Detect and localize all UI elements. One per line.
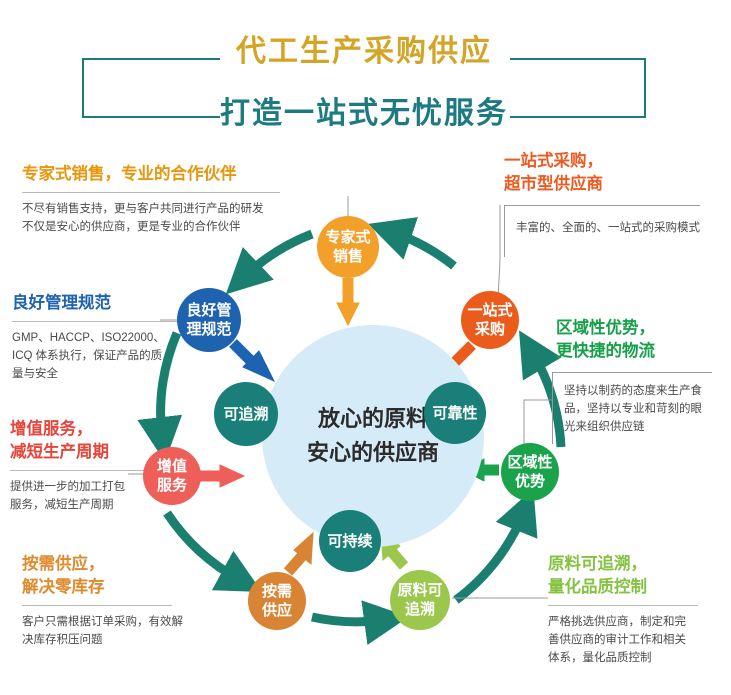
annotation-expert-sales-rule — [22, 192, 280, 193]
node-regional-advantage[interactable]: 区域性优势 — [501, 443, 559, 501]
node-on-demand-supply-label: 按需供应 — [262, 582, 292, 620]
node-sustainable-label: 可持续 — [327, 532, 372, 551]
annotation-good-management-body: GMP、HACCP、ISO22000、 ICQ 体系执行，保证产品的质 量与安全 — [12, 329, 184, 383]
node-one-stop-procurement[interactable]: 一站式采购 — [461, 291, 519, 349]
annotation-one-stop-title: 一站式采购， 超市型供应商 — [504, 150, 704, 196]
annotation-regional-title: 区域性优势， 更快捷的物流 — [556, 317, 722, 363]
center-label-line1: 放心的原料 — [318, 402, 428, 436]
node-reliable-label: 可靠性 — [432, 404, 477, 423]
annotation-on-demand: 按需供应， 解决零库存 客户只需根据订单采购，有效解 决库存积压问题 — [22, 553, 200, 649]
node-on-demand-supply[interactable]: 按需供应 — [248, 572, 306, 630]
node-one-stop-procurement-label: 一站式采购 — [467, 301, 512, 339]
node-reliable[interactable]: 可靠性 — [424, 382, 486, 444]
node-material-traceability-label: 原料可追溯 — [397, 581, 442, 619]
annotation-value-added-rule — [10, 470, 152, 471]
annotation-regional: 区域性优势， 更快捷的物流 — [556, 317, 722, 363]
node-sustainable[interactable]: 可持续 — [319, 510, 381, 572]
annotation-good-management-rule — [12, 321, 180, 322]
node-value-added-service-label: 增值服务 — [157, 457, 187, 495]
node-value-added-service[interactable]: 增值服务 — [143, 447, 201, 505]
node-regional-advantage-label: 区域性优势 — [507, 453, 552, 491]
annotation-traceability-title: 原料可追溯， 量化品质控制 — [548, 553, 728, 599]
node-material-traceability[interactable]: 原料可追溯 — [390, 570, 450, 630]
annotation-expert-sales-body: 不尽有销售支持，更与客户共同进行产品的研发 不仅是安心的供应商，更是专业的合作伙… — [22, 200, 284, 236]
node-good-management-label: 良好管理规范 — [186, 301, 231, 339]
annotation-on-demand-title: 按需供应， 解决零库存 — [22, 553, 200, 599]
annotation-regional-body: 坚持以制药的态度来生产食 品，坚持以专业和苛刻的眼 光来组织供应链 — [564, 382, 716, 436]
annotation-good-management-title: 良好管理规范 — [12, 292, 184, 315]
annotation-traceability-rule — [548, 605, 698, 606]
annotation-one-stop: 一站式采购， 超市型供应商 — [504, 150, 704, 196]
annotation-on-demand-rule — [22, 605, 172, 606]
annotation-expert-sales: 专家式销售，专业的合作伙伴 不尽有销售支持，更与客户共同进行产品的研发 不仅是安… — [22, 163, 284, 236]
node-expert-sales-label: 专家式销售 — [325, 228, 370, 266]
annotation-one-stop-body: 丰富的、全面的、一站式的采购模式 — [516, 219, 702, 237]
annotation-on-demand-body: 客户只需根据订单采购，有效解 决库存积压问题 — [22, 613, 200, 649]
annotation-traceability: 原料可追溯， 量化品质控制 严格挑选供应商，制定和完 善供应商的审计工作和相关 … — [548, 553, 728, 667]
annotation-good-management: 良好管理规范 GMP、HACCP、ISO22000、 ICQ 体系执行，保证产品… — [12, 292, 184, 383]
node-good-management[interactable]: 良好管理规范 — [177, 288, 241, 352]
infographic-canvas: 代工生产采购供应 打造一站式无忧服务 — [0, 0, 731, 695]
node-traceable-inner-label: 可追溯 — [223, 405, 268, 424]
annotation-expert-sales-title: 专家式销售，专业的合作伙伴 — [22, 163, 284, 186]
node-expert-sales[interactable]: 专家式销售 — [317, 216, 379, 278]
center-label-line2: 安心的供应商 — [307, 436, 439, 470]
node-traceable-inner[interactable]: 可追溯 — [214, 382, 278, 446]
annotation-traceability-body: 严格挑选供应商，制定和完 善供应商的审计工作和相关 体系，量化品质控制 — [548, 613, 728, 667]
